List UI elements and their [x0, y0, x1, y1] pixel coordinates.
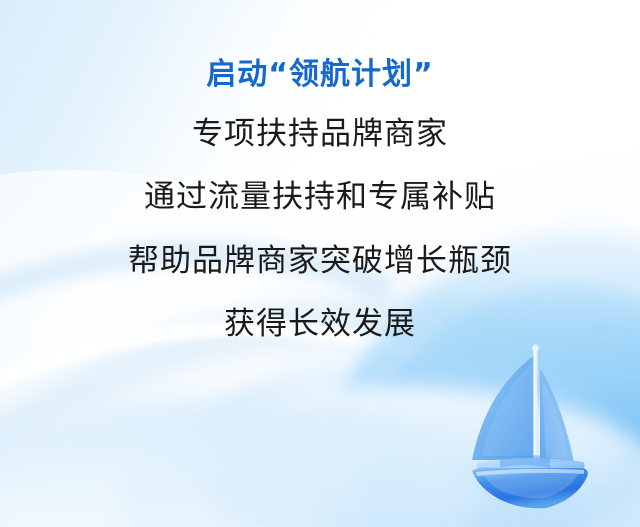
body-line-3: 帮助品牌商家突破增长瓶颈	[0, 243, 640, 280]
poster-canvas: 启动“领航计划” 专项扶持品牌商家 通过流量扶持和专属补贴 帮助品牌商家突破增长…	[0, 0, 640, 527]
text-block: 启动“领航计划” 专项扶持品牌商家 通过流量扶持和专属补贴 帮助品牌商家突破增长…	[0, 56, 640, 343]
sailboat-icon	[466, 338, 602, 513]
headline: 启动“领航计划”	[0, 56, 640, 94]
body-line-2: 通过流量扶持和专属补贴	[0, 179, 640, 216]
body-line-1: 专项扶持品牌商家	[0, 116, 640, 153]
hull-shape	[472, 467, 588, 508]
mast-shape	[532, 345, 539, 466]
sail-jib-shape	[540, 368, 574, 462]
sail-main-shape	[472, 354, 536, 460]
background-ribbon-bottom-left	[0, 397, 480, 527]
